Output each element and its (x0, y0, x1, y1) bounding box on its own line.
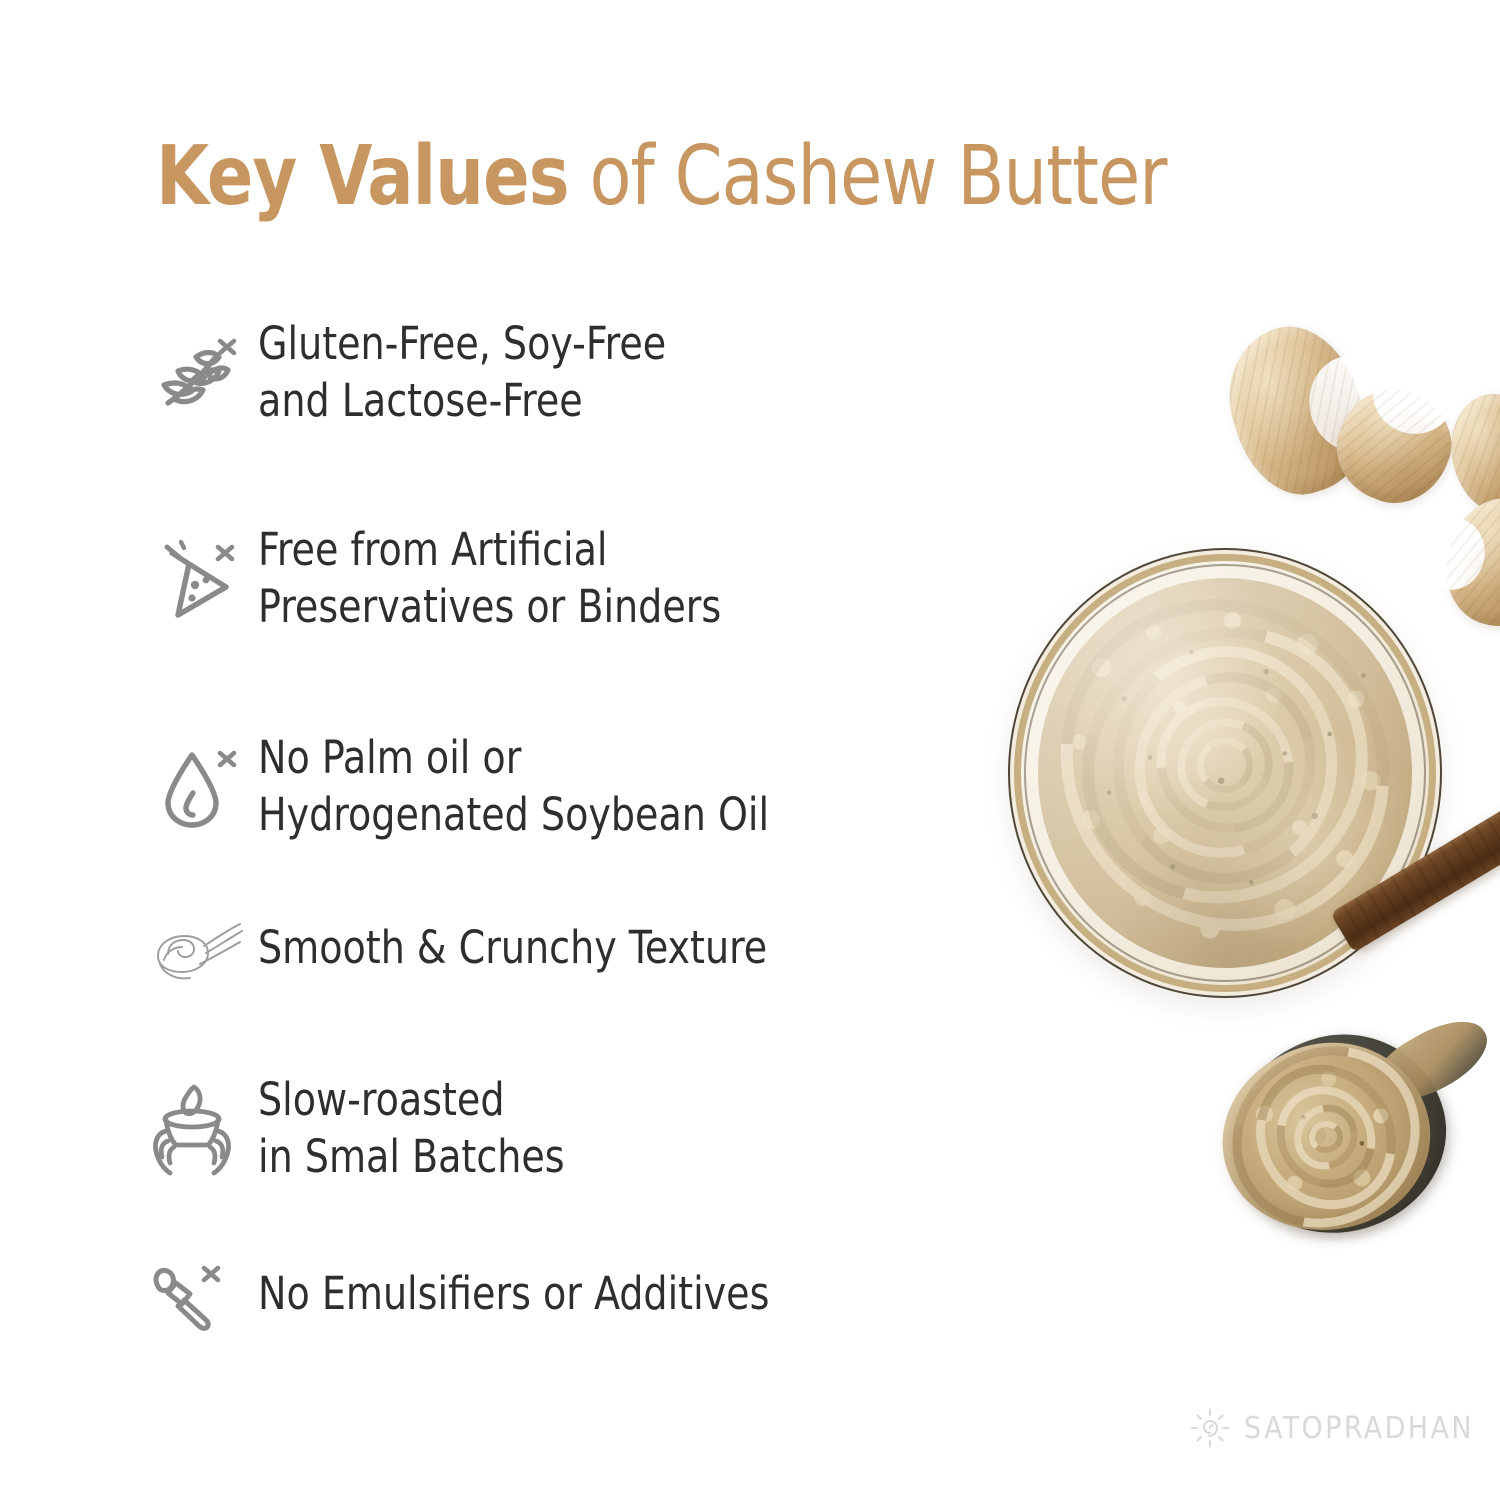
sun-spiral-icon (1188, 1406, 1232, 1450)
list-item-label-line1: No Palm oil or (258, 731, 521, 784)
brand-name: SATOPRADHAN (1244, 1411, 1474, 1446)
list-item-label-line1: Gluten-Free, Soy-Free (258, 317, 666, 370)
list-item-label: Slow-roastedin Smal Batches (258, 1072, 565, 1185)
list-item-label: Gluten-Free, Soy-Freeand Lactose-Free (258, 316, 666, 429)
page-title-regular: of Cashew Butter (569, 129, 1167, 224)
list-item-label: Free from ArtificialPreservatives or Bin… (258, 522, 721, 635)
hands-holding-mortar-bowl-icon (148, 1072, 244, 1190)
list-item-label-line2: and Lactose-Free (258, 373, 666, 430)
lab-flask-crossed-out-icon (148, 522, 244, 640)
dropper-pipette-crossed-out-icon (148, 1266, 244, 1328)
infographic-canvas: Key Values of Cashew Butter (0, 0, 1500, 1500)
list-item-label-line1: Slow-roasted (258, 1073, 505, 1126)
list-item: Smooth & Crunchy Texture (148, 920, 800, 982)
list-item-label: Smooth & Crunchy Texture (258, 920, 767, 977)
list-item: Gluten-Free, Soy-Freeand Lactose-Free (148, 316, 692, 434)
page-title-bold: Key Values (156, 129, 569, 224)
cashew-nut (1436, 489, 1500, 636)
list-item-label-line2: Preservatives or Binders (258, 579, 721, 636)
wheat-grain-crossed-out-icon (148, 316, 244, 434)
list-item: No Emulsifiers or Additives (148, 1266, 802, 1328)
list-item-label: No Palm oil orHydrogenated Soybean Oil (258, 730, 769, 843)
list-item-label-line2: in Smal Batches (258, 1129, 565, 1186)
cashew-butter-dollop (1203, 1022, 1450, 1253)
oil-droplet-crossed-out-icon (148, 730, 244, 848)
cashew-nut (1444, 389, 1500, 518)
list-item: No Palm oil orHydrogenated Soybean Oil (148, 730, 802, 848)
list-item: Free from ArtificialPreservatives or Bin… (148, 522, 751, 640)
list-item-label-line2: Hydrogenated Soybean Oil (258, 787, 769, 844)
list-item: Slow-roastedin Smal Batches (148, 1072, 584, 1190)
list-item-label-line1: No Emulsifiers or Additives (258, 1267, 769, 1320)
spoon-with-swirl-icon (148, 920, 244, 982)
list-item-label-line1: Free from Artificial (258, 523, 608, 576)
list-item-label-line1: Smooth & Crunchy Texture (258, 921, 767, 974)
brand-watermark: SATOPRADHAN (1188, 1406, 1474, 1450)
wooden-spoon-with-cashew-butter (1222, 940, 1500, 1260)
cashew-notch (1414, 512, 1492, 596)
cashew-notch (1361, 343, 1466, 446)
list-item-label: No Emulsifiers or Additives (258, 1266, 769, 1323)
page-title: Key Values of Cashew Butter (156, 136, 1167, 218)
